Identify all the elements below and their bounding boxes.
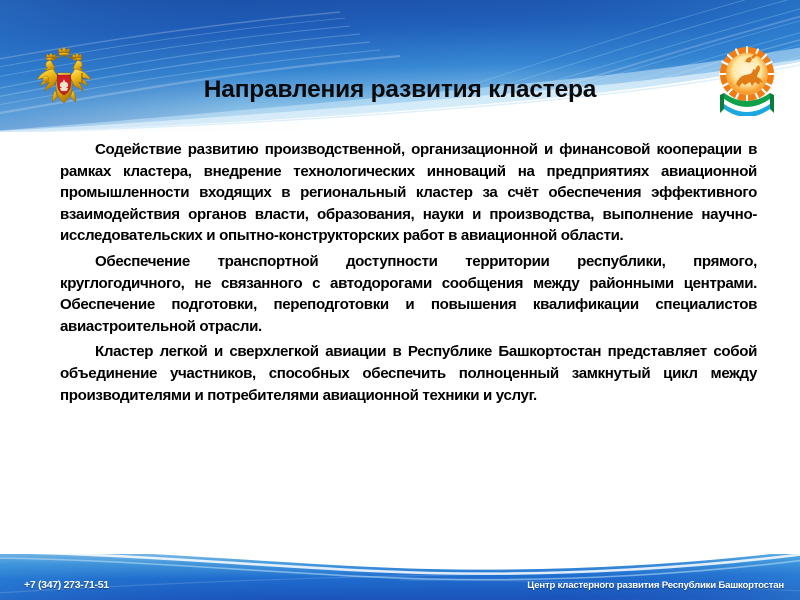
footer-phone: +7 (347) 273-71-51	[24, 579, 109, 591]
header-background-graphic	[0, 0, 800, 132]
slide-body: Содействие развитию производственной, ор…	[60, 139, 757, 406]
footer-organization: Центр кластерного развития Республики Ба…	[527, 580, 784, 591]
body-paragraph: Кластер легкой и сверхлегкой авиации в Р…	[60, 341, 757, 406]
presentation-slide: Направления развития кластера Содействие…	[0, 0, 800, 600]
slide-title: Направления развития кластера	[110, 76, 690, 104]
body-paragraph: Обеспечение транспортной доступности тер…	[60, 251, 757, 337]
slide-footer: +7 (347) 273-71-51 Центр кластерного раз…	[0, 554, 800, 600]
footer-background-graphic	[0, 554, 800, 600]
body-paragraph: Содействие развитию производственной, ор…	[60, 139, 757, 247]
bashkortostan-coat-of-arms	[714, 40, 780, 116]
slide-header: Направления развития кластера	[0, 0, 800, 132]
russian-federation-coat-of-arms	[33, 44, 95, 116]
